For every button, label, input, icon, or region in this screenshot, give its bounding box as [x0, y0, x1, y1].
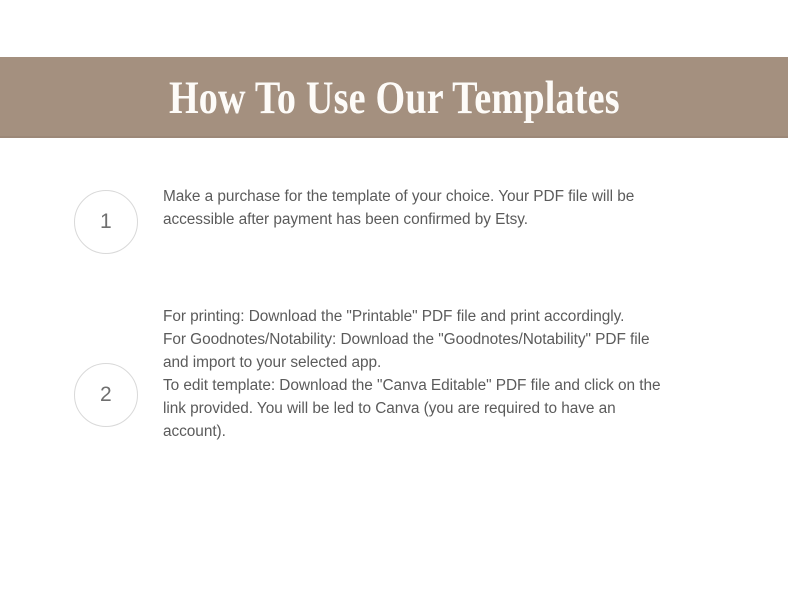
page-title: How To Use Our Templates [169, 74, 620, 120]
step-text-line: For printing: Download the "Printable" P… [163, 305, 753, 328]
step-text-line: link provided. You will be led to Canva … [163, 397, 753, 420]
step-text-line: account). [163, 420, 753, 443]
step-text-2: For printing: Download the "Printable" P… [163, 305, 753, 443]
step-text-line: To edit template: Download the "Canva Ed… [163, 374, 753, 397]
step-number-label-2: 2 [100, 384, 112, 405]
step-number-circle-1: 1 [74, 190, 138, 254]
step-text-line: For Goodnotes/Notability: Download the "… [163, 328, 753, 351]
step-number-label-1: 1 [100, 211, 112, 232]
step-text-1: Make a purchase for the template of your… [163, 185, 753, 231]
slide-page: How To Use Our Templates 1 Make a purcha… [0, 0, 794, 596]
header-banner: How To Use Our Templates [0, 57, 788, 138]
step-text-line: Make a purchase for the template of your… [163, 185, 753, 208]
step-text-line: and import to your selected app. [163, 351, 753, 374]
step-text-line: accessible after payment has been confir… [163, 208, 753, 231]
step-number-circle-2: 2 [74, 363, 138, 427]
